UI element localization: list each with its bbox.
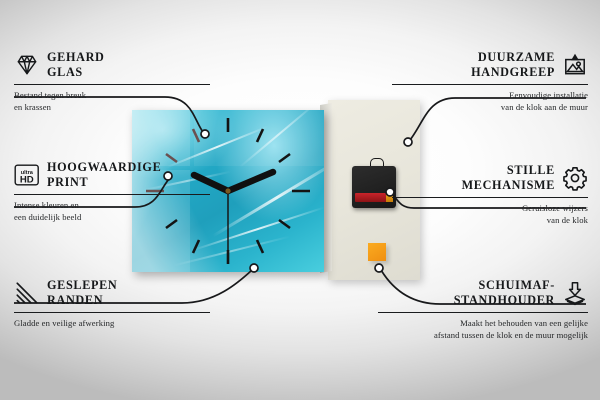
feature-description: Eenvoudige installatie van de klok aan d…	[392, 89, 588, 113]
bevelled-edge-icon	[14, 280, 40, 306]
feature-hoogwaardige-print: ultra HD HOOGWAARDIGE PRINT Intense kleu…	[14, 160, 210, 223]
feature-title: STILLE MECHANISME	[462, 163, 555, 193]
feature-title: SCHUIMAF- STANDHOUDER	[454, 278, 555, 308]
callout-dot-gehard-glas	[201, 130, 209, 138]
feature-schuimaf-standhouder: SCHUIMAF- STANDHOUDER Maakt het behouden…	[378, 278, 588, 341]
press-down-pad-icon	[562, 280, 588, 306]
ultra-hd-badge-icon: ultra HD	[14, 162, 40, 188]
divider	[14, 194, 210, 195]
feature-duurzame-handgreep: DUURZAME HANDGREEP Eenvoudige installati…	[392, 50, 588, 113]
feature-description: Intense kleuren en een duidelijk beeld	[14, 199, 210, 223]
feature-geslepen-randen: GESLEPEN RANDEN Gladde en veilige afwerk…	[14, 278, 210, 329]
divider	[14, 84, 210, 85]
divider	[14, 312, 210, 313]
feature-title: HOOGWAARDIGE PRINT	[47, 160, 161, 190]
infographic-canvas: GEHARD GLAS Bestand tegen breuk en krass…	[0, 0, 600, 400]
diamond-icon	[14, 52, 40, 78]
feature-description: Gladde en veilige afwerking	[14, 317, 210, 329]
divider	[392, 84, 588, 85]
callout-dot-schuimaf-standhouder	[375, 264, 383, 272]
feature-title: GESLEPEN RANDEN	[47, 278, 117, 308]
feature-gehard-glas: GEHARD GLAS Bestand tegen breuk en krass…	[14, 50, 210, 113]
feature-description: Geruisloze wijzers van de klok	[392, 202, 588, 226]
picture-frame-icon	[562, 52, 588, 78]
feature-stille-mechanisme: STILLE MECHANISME Geruisloze wijzers van…	[392, 163, 588, 226]
callout-dot-duurzame-handgreep	[404, 138, 412, 146]
callout-dot-geslepen-randen	[250, 264, 258, 272]
badge-large-text: HD	[20, 174, 34, 185]
gear-icon	[562, 165, 588, 191]
feature-title: GEHARD GLAS	[47, 50, 105, 80]
feature-title: DUURZAME HANDGREEP	[471, 50, 555, 80]
divider	[392, 197, 588, 198]
feature-description: Bestand tegen breuk en krassen	[14, 89, 210, 113]
divider	[378, 312, 588, 313]
feature-description: Maakt het behouden van een gelijke afsta…	[378, 317, 588, 341]
